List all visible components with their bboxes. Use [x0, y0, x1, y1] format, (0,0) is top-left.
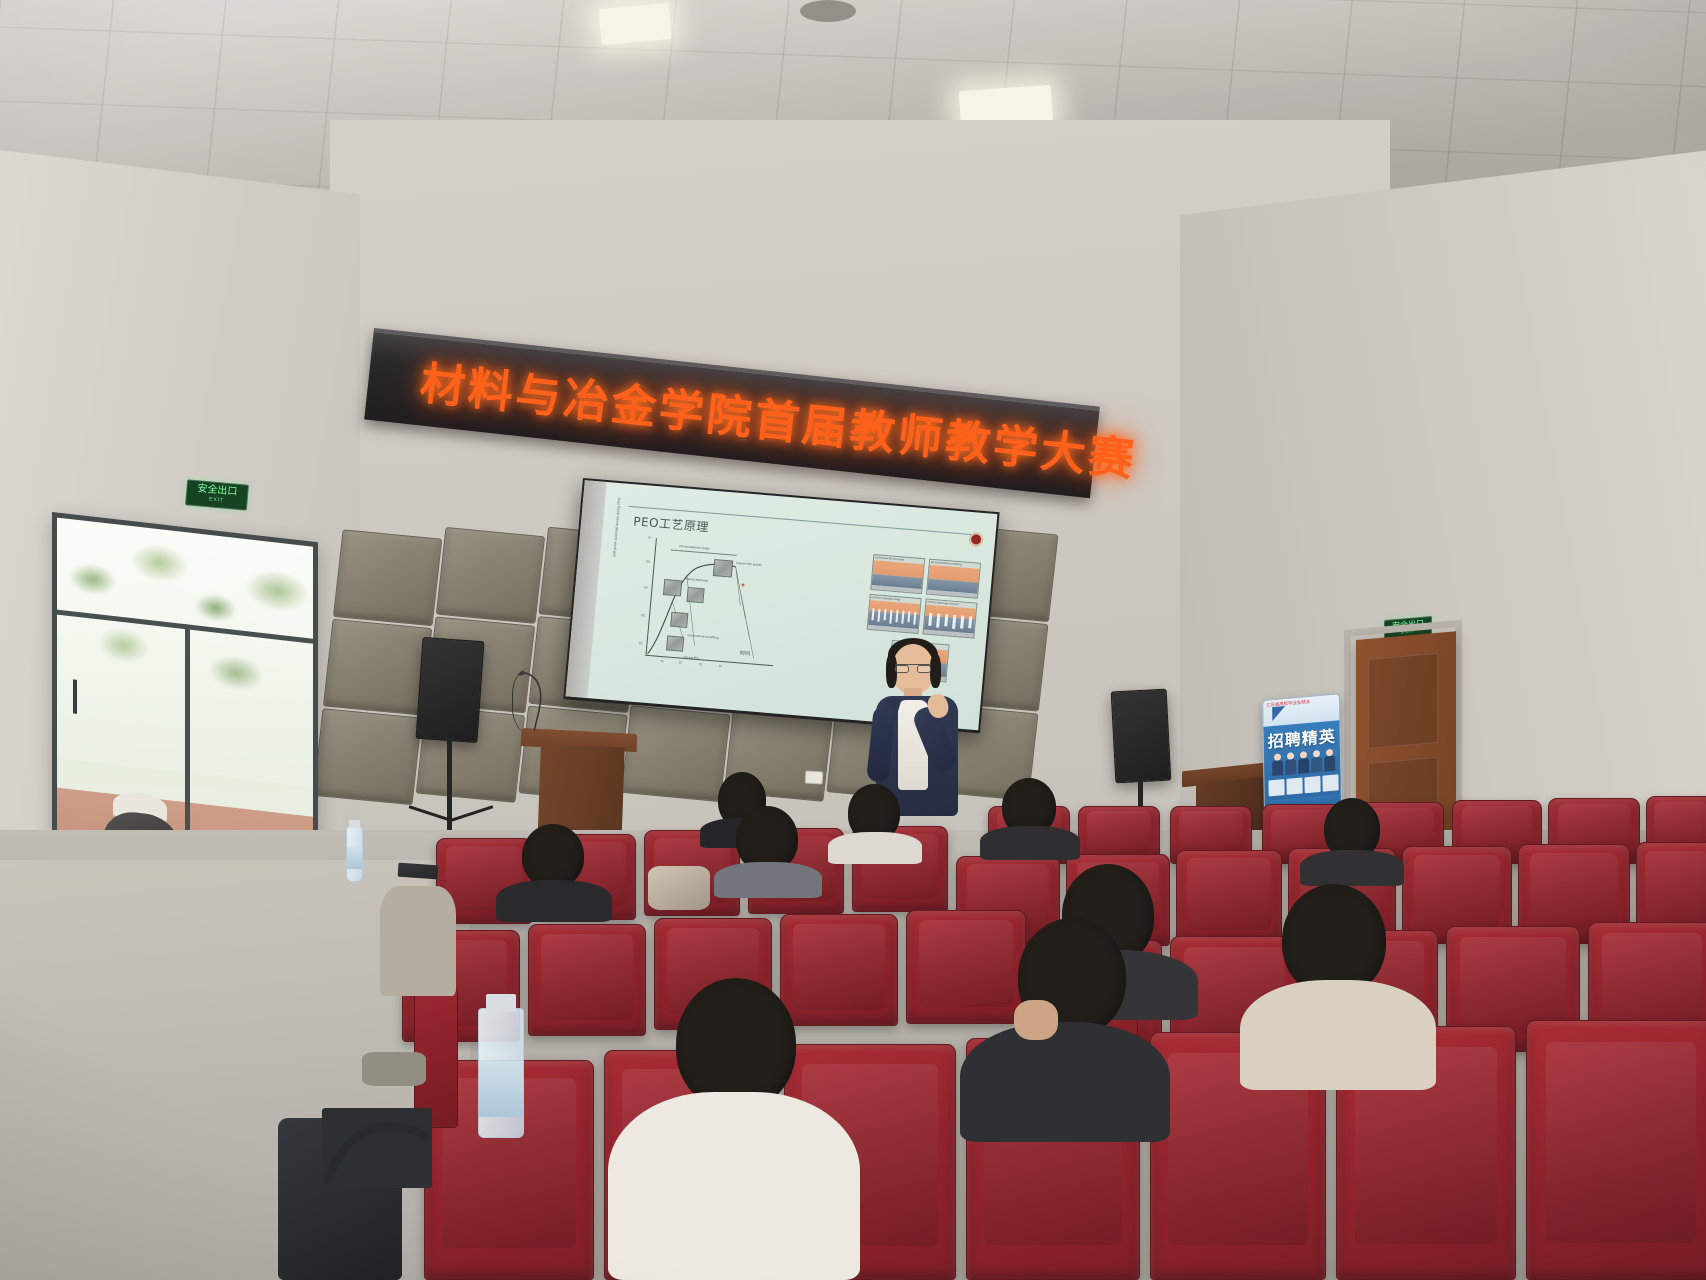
audience-shoulder — [828, 832, 922, 864]
poster-header-band: 江苏省高校毕业生就业 — [1263, 694, 1339, 727]
audience-hand — [1014, 1000, 1058, 1040]
auditorium-chair[interactable] — [1176, 850, 1282, 944]
water-bottle[interactable] — [346, 826, 363, 882]
peo-voltage-chart: Self-grown potential across during PEO 时… — [623, 536, 783, 668]
chart-x-tick: t1 — [661, 659, 664, 663]
loudspeaker-left — [416, 637, 485, 743]
bottle-label — [479, 1061, 523, 1117]
chart-x-tick: t3 — [699, 662, 702, 666]
audience-seated-figure — [380, 886, 456, 996]
bottle-cap — [486, 994, 516, 1012]
water-bottle[interactable] — [478, 1008, 524, 1138]
door-panel — [1368, 653, 1438, 749]
chart-micrograph — [670, 612, 688, 628]
bottle-cap — [349, 820, 360, 828]
chart-x-tick: t2 — [679, 660, 682, 664]
bottle-label — [347, 847, 362, 869]
chart-micrograph — [686, 587, 704, 603]
poster-people-photo — [1270, 745, 1336, 777]
ceiling-vent — [800, 0, 856, 22]
audience-head — [676, 978, 796, 1110]
auditorium-chair[interactable] — [528, 924, 646, 1036]
audience-shoulder — [960, 1022, 1170, 1142]
door-handle[interactable] — [73, 679, 77, 713]
mechanism-panel-grid: (a) Passive film formation (b) Conventio… — [873, 554, 985, 563]
loudspeaker-right — [1111, 689, 1172, 784]
chart-x-tick: t4 — [719, 664, 722, 668]
presenter-hair-side — [930, 654, 941, 688]
audience-bag-on-seat — [648, 866, 710, 910]
auditorium-chair[interactable] — [1526, 1020, 1706, 1280]
chart-micrograph — [713, 559, 733, 577]
auditorium-chair[interactable] — [906, 910, 1026, 1024]
mechanism-panel: (b) Conventional anodizing — [926, 559, 981, 599]
auditorium-chair[interactable] — [780, 914, 898, 1026]
discharge-spark-icon: ✦ — [740, 581, 747, 589]
university-logo-icon — [968, 532, 983, 547]
audience-shoulder — [1300, 850, 1404, 886]
gooseneck-microphone-icon — [512, 668, 556, 734]
chart-micrograph — [666, 635, 684, 651]
ceiling-light-panel — [599, 3, 672, 45]
slide-title: PEO工艺原理 — [633, 512, 710, 535]
mechanism-panel: (c) PEO nucleation stage — [867, 594, 922, 634]
backpack-strap — [322, 1108, 432, 1188]
poster-thumbnail-strip — [1268, 774, 1338, 796]
chart-micrograph — [663, 579, 682, 596]
audience-shoulder — [1240, 980, 1436, 1090]
wall-outlet[interactable] — [805, 771, 824, 785]
mechanism-panel: (a) Passive film formation — [870, 554, 925, 594]
chart-y-label: Self-grown potential across during PEO — [612, 487, 622, 557]
lecture-hall-scene: 材料与冶金学院首届教师教学大赛 PEO工艺原理 College and Inst… — [0, 0, 1706, 1280]
audience-shoulder — [980, 826, 1080, 860]
sail-graphic-icon — [1272, 706, 1285, 721]
audience-shoulder — [608, 1092, 860, 1280]
audience-shoulder — [496, 880, 612, 922]
audience-head — [522, 824, 584, 888]
notebook[interactable] — [398, 863, 439, 880]
audience-leg — [362, 1052, 426, 1086]
eyeglasses-icon — [895, 664, 931, 672]
audience-shoulder — [714, 862, 822, 898]
mechanism-panel: (d) PEO discharge channel — [922, 598, 977, 638]
exit-sign-left: 安全出口 EXIT — [185, 479, 249, 510]
